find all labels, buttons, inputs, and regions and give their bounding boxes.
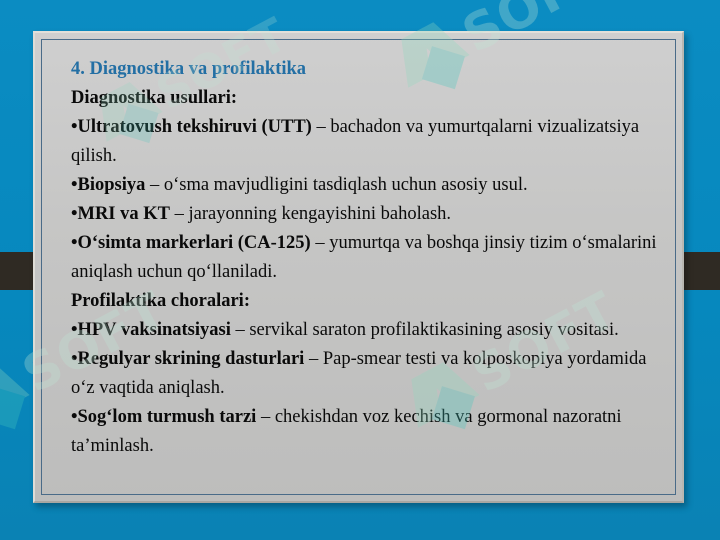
- slide-panel: 4. Diagnostika va profilaktika Diagnosti…: [33, 31, 684, 503]
- slide-heading: 4. Diagnostika va profilaktika: [71, 55, 664, 84]
- bullet-hpv-vaksinatsiyasi: •HPV vaksinatsiyasi – servikal saraton p…: [71, 316, 664, 345]
- bullet-term: MRI va KT: [77, 204, 170, 224]
- bullet-term: Sog‘lom turmush tarzi: [77, 407, 256, 427]
- slide-canvas: 4. Diagnostika va profilaktika Diagnosti…: [0, 0, 720, 540]
- bullet-biopsiya: •Biopsiya – o‘sma mavjudligini tasdiqlas…: [71, 171, 664, 200]
- bullet-text: – o‘sma mavjudligini tasdiqlash uchun as…: [145, 175, 527, 195]
- bullet-mri-kt: •MRI va KT – jarayonning kengayishini ba…: [71, 200, 664, 229]
- bullet-term: Biopsiya: [77, 175, 145, 195]
- slide-content: 4. Diagnostika va profilaktika Diagnosti…: [71, 55, 664, 461]
- subheading-profilaktika: Profilaktika choralari:: [71, 287, 664, 316]
- bullet-soglom-turmush-tarzi: •Sog‘lom turmush tarzi – chekishdan voz …: [71, 403, 664, 461]
- bullet-term: Regulyar skrining dasturlari: [77, 349, 304, 369]
- subheading-diagnostika: Diagnostika usullari:: [71, 84, 664, 113]
- bullet-regulyar-skrining: •Regulyar skrining dasturlari – Pap-smea…: [71, 345, 664, 403]
- bullet-term: Ultratovush tekshiruvi (UTT): [77, 117, 311, 137]
- bullet-text: – servikal saraton profilaktikasining as…: [231, 320, 619, 340]
- bullet-ultratovush: •Ultratovush tekshiruvi (UTT) – bachadon…: [71, 113, 664, 171]
- bullet-term: HPV vaksinatsiyasi: [77, 320, 230, 340]
- bullet-osimta-markerlari: •O‘simta markerlari (CA-125) – yumurtqa …: [71, 229, 664, 287]
- watermark-mark-icon: [0, 353, 37, 440]
- bullet-text: – jarayonning kengayishini baholash.: [170, 204, 451, 224]
- bullet-term: O‘simta markerlari (CA-125): [77, 233, 310, 253]
